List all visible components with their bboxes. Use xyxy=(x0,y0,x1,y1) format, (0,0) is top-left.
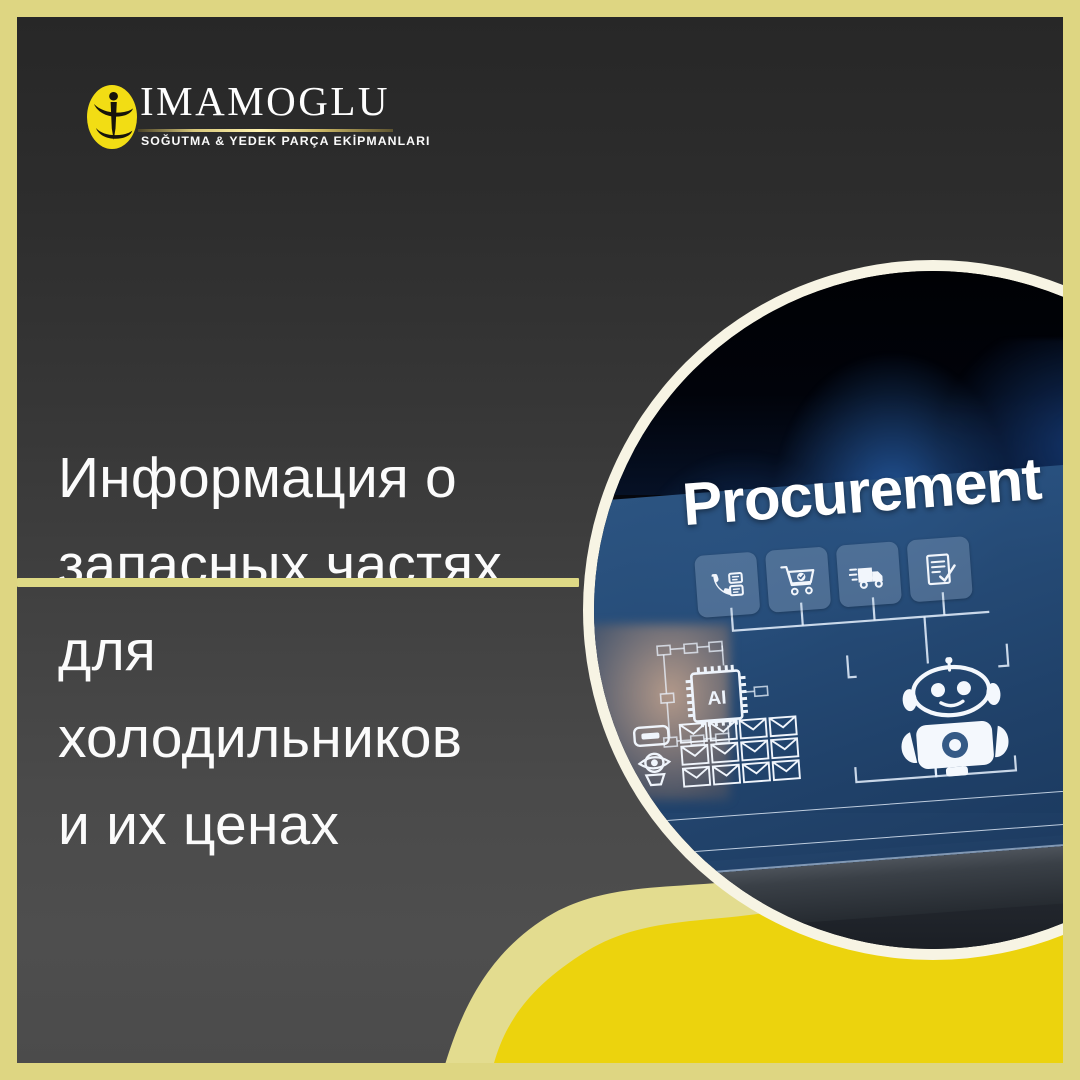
headline-divider xyxy=(17,578,579,587)
poster-canvas: Procurement xyxy=(0,0,1080,1080)
headline-line-1: Информация о xyxy=(58,435,598,522)
svg-text:AI: AI xyxy=(707,687,727,709)
tile-document-checklist[interactable] xyxy=(906,536,972,602)
text-caret xyxy=(659,829,662,846)
delivery-truck-icon xyxy=(847,553,890,596)
photo-image: Procurement xyxy=(594,271,1063,949)
headline-line-4: холодильников xyxy=(58,695,598,782)
brand-name: IMAMOGLU xyxy=(140,81,390,122)
document-checklist-icon xyxy=(918,547,961,590)
brand-tagline: SOĞUTMA & YEDEK PARÇA EKİPMANLARI xyxy=(141,134,430,148)
page-title: Информация о запасных частях для холодил… xyxy=(58,435,598,868)
brand-logo[interactable]: IMAMOGLU SOĞUTMA & YEDEK PARÇA EKİPMANLA… xyxy=(86,81,396,169)
tile-contact-phone[interactable] xyxy=(694,551,760,617)
contact-phone-icon xyxy=(706,563,749,606)
headline-line-5: и их ценах xyxy=(58,782,598,869)
robot-bot-icon xyxy=(874,652,1034,805)
hero-photo-circle: Procurement xyxy=(583,260,1063,960)
robot-bot-group xyxy=(874,652,1034,810)
mail-grid-icon xyxy=(631,712,808,820)
imamoglu-emblem-icon xyxy=(86,84,138,150)
dark-panel: Procurement xyxy=(17,17,1063,1063)
tile-shopping-cart[interactable] xyxy=(765,546,831,612)
headline-line-3: для xyxy=(58,608,598,695)
photo-ui-overlay: Procurement xyxy=(594,271,1063,949)
tile-delivery-truck[interactable] xyxy=(835,541,901,607)
photo-clip: Procurement xyxy=(594,271,1063,949)
mail-grid-group xyxy=(631,712,808,825)
logo-divider-rule xyxy=(138,129,393,132)
headline-line-2: запасных частях xyxy=(58,522,598,609)
shopping-cart-icon xyxy=(776,558,819,601)
